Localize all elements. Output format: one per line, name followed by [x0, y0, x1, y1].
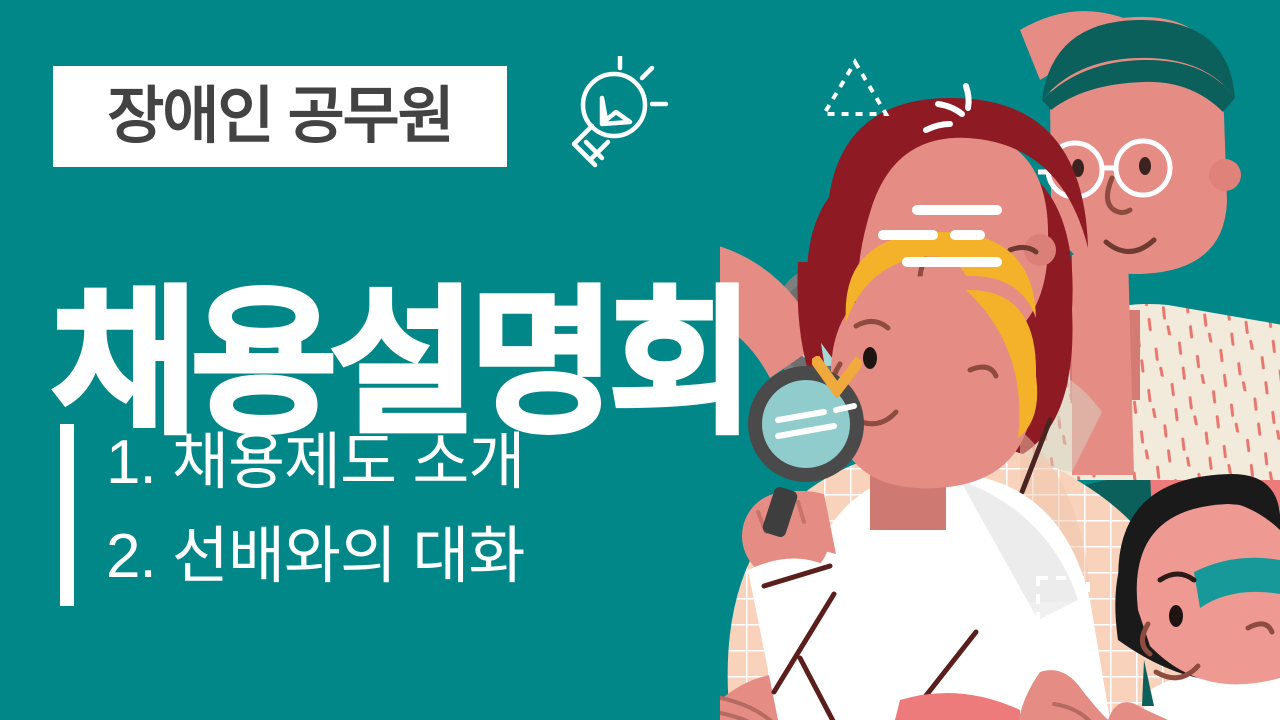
badge: 장애인 공무원: [53, 66, 507, 167]
chevron-down-icon: [812, 356, 862, 398]
list-item: 1. 채용제도 소개: [106, 416, 524, 510]
sparkle-lines-icon: [918, 82, 980, 144]
list-item: 2. 선배와의 대화: [106, 510, 524, 604]
poster-canvas: 장애인 공무원 채용설명회 1. 채용제도 소개 2. 선배와의 대화: [0, 0, 1280, 720]
lightbulb-icon: [552, 56, 672, 176]
agenda-accent-bar: [60, 424, 74, 606]
agenda-list: 1. 채용제도 소개 2. 선배와의 대화: [106, 416, 524, 604]
text-lines-icon: [878, 205, 1003, 265]
badge-label: 장애인 공무원: [107, 86, 452, 148]
agenda-block: 1. 채용제도 소개 2. 선배와의 대화: [60, 422, 680, 608]
illustration: [720, 0, 1280, 720]
dashed-triangle-icon: [820, 58, 890, 120]
